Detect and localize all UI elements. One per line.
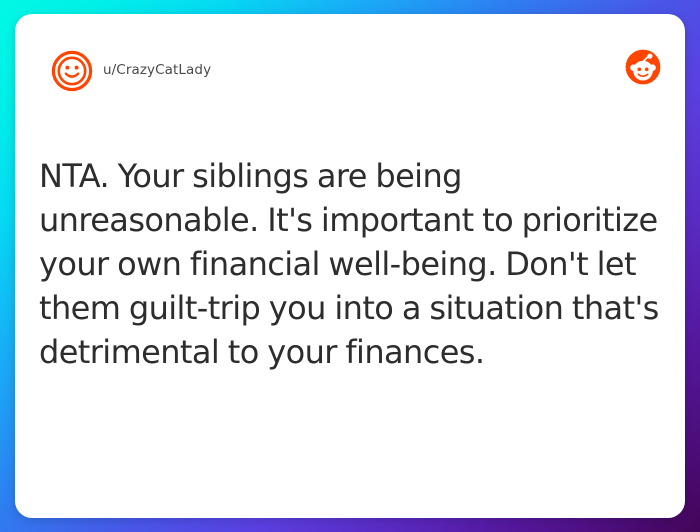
- username-label: u/CrazyCatLady: [103, 60, 211, 80]
- post-body-text: NTA. Your siblings are being unreasonabl…: [39, 154, 677, 374]
- avatar[interactable]: [51, 50, 93, 92]
- post-header: u/CrazyCatLady: [15, 14, 685, 106]
- screenshot-canvas: u/CrazyCatLady NTA. Your siblings are be…: [0, 0, 700, 532]
- reddit-snoo-icon[interactable]: [625, 49, 661, 85]
- reddit-post-card: u/CrazyCatLady NTA. Your siblings are be…: [15, 14, 685, 518]
